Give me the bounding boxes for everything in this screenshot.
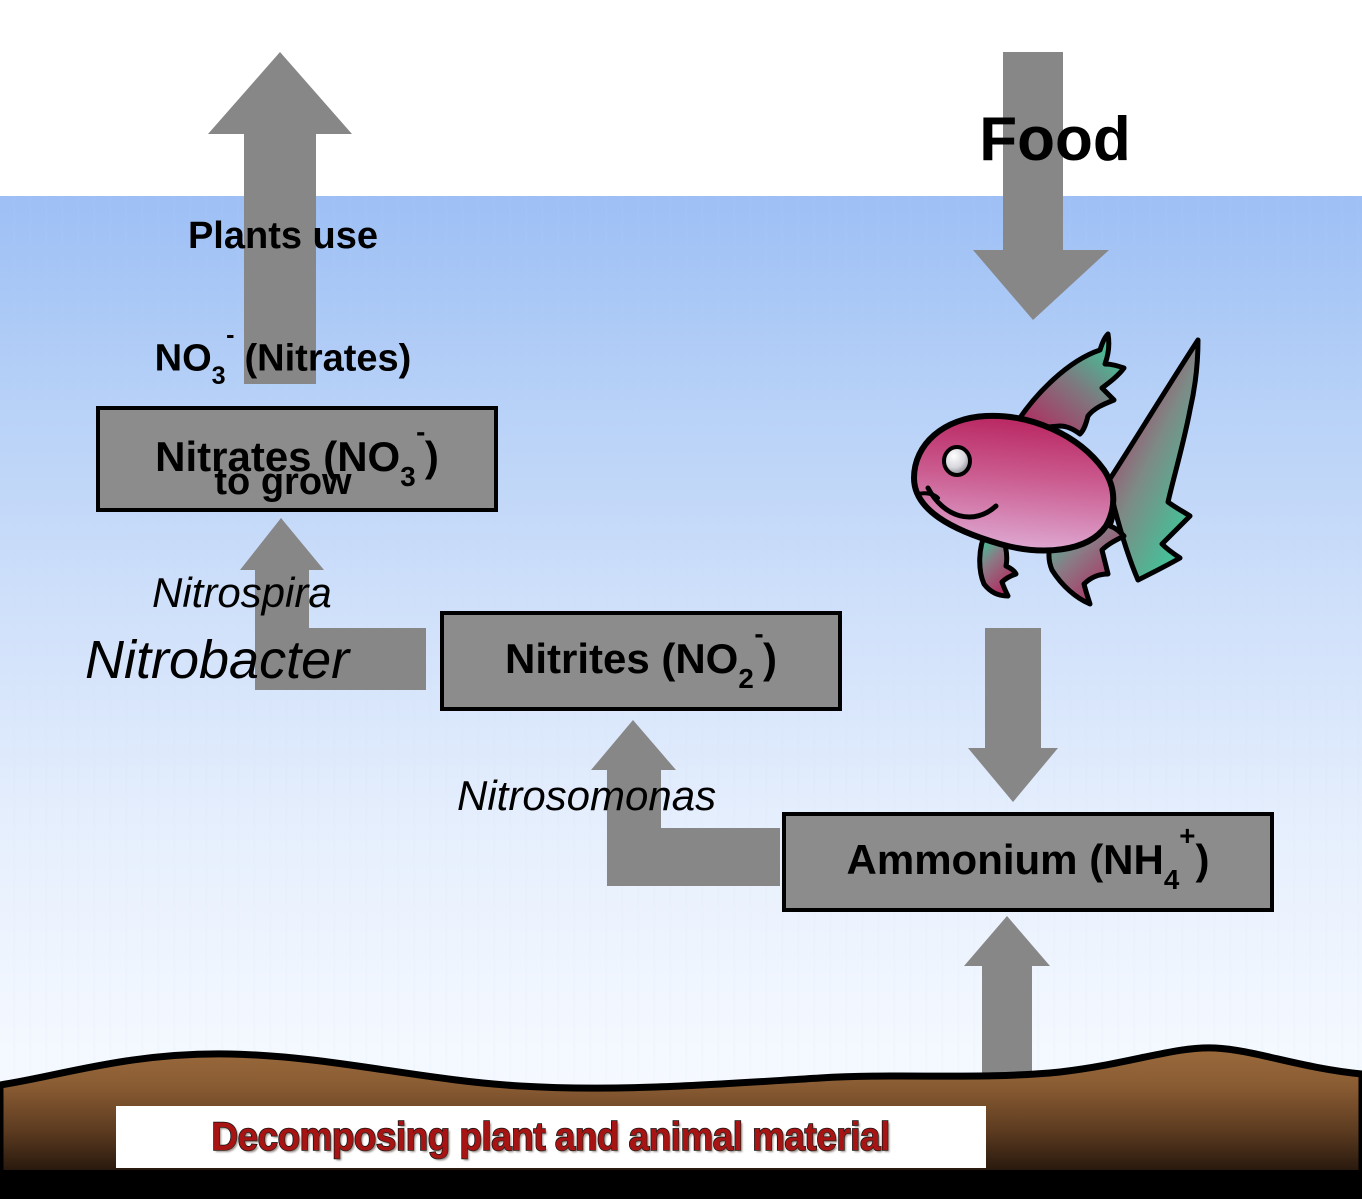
box-ammonium[interactable]: Ammonium (NH4+) [782,812,1274,912]
label-food: Food [900,104,1210,175]
fish-eye [944,447,970,475]
decomposing-material-banner: Decomposing plant and animal material [116,1106,986,1168]
arrow-food-input [975,52,1115,324]
nitrogen-cycle-diagram: Nitrates (NO3-) Nitrites (NO2-) Ammonium… [0,0,1362,1199]
box-ammonium-label: Ammonium (NH4+) [847,836,1210,888]
plants-line-1: Plants use [88,217,478,257]
arrow-fish-to-ammonium [968,628,1060,806]
label-nitrospira: Nitrospira [152,569,332,617]
nitrites-superscript: - [754,618,763,649]
plants-line-3: to grow [88,463,478,503]
plants-line-2: NO3- (Nitrates) [88,336,478,384]
plants-no3-superscript: - [226,321,234,349]
label-plants-use-nitrates: Plants use NO3- (Nitrates) to grow [88,138,478,581]
fish-illustration [900,330,1220,622]
label-nitrosomonas: Nitrosomonas [457,772,716,820]
substrate-base-shadow [0,1170,1362,1199]
ammonium-superscript: + [1179,820,1195,851]
fish-body [914,416,1113,551]
fish-tail-fin [1108,340,1198,580]
label-nitrobacter: Nitrobacter [85,629,349,691]
decomposing-material-text: Decomposing plant and animal material [212,1115,890,1160]
box-nitrites[interactable]: Nitrites (NO2-) [440,611,842,711]
nitrites-subscript: 2 [738,663,753,694]
plants-no3-subscript: 3 [212,362,226,390]
ammonium-subscript: 4 [1164,864,1179,895]
box-nitrites-label: Nitrites (NO2-) [505,635,777,687]
